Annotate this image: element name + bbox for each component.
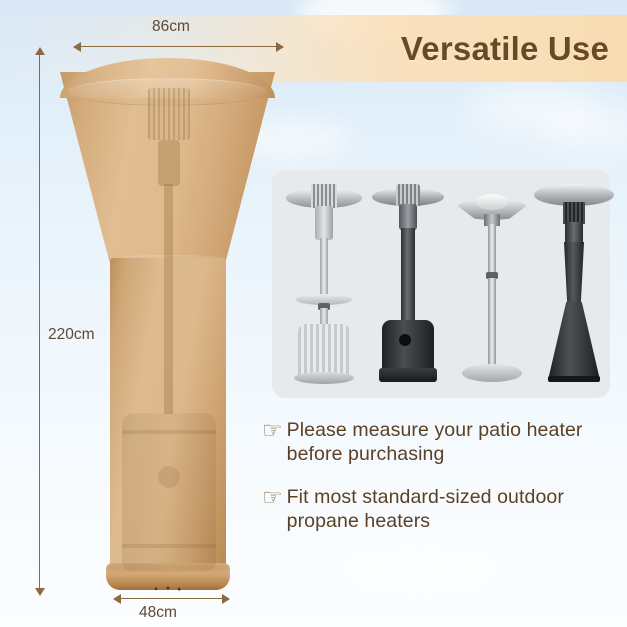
page-title: Versatile Use bbox=[401, 30, 609, 68]
heater-base bbox=[294, 372, 354, 384]
cloud-decoration bbox=[330, 540, 510, 590]
bullet-item-fit: ☞ Fit most standard-sized outdoor propan… bbox=[262, 485, 622, 533]
compatible-heaters-panel bbox=[272, 170, 610, 398]
heater-tank bbox=[382, 320, 434, 372]
dimension-line-width-top bbox=[80, 46, 276, 47]
heater-control-box bbox=[565, 222, 583, 244]
heater-burner-housing bbox=[311, 184, 337, 208]
heater-tank-ring bbox=[122, 430, 216, 434]
heater-pole bbox=[320, 238, 328, 300]
dimension-arrow-left bbox=[73, 42, 81, 52]
dimension-arrow-down bbox=[35, 588, 45, 596]
heater-pole-showthrough bbox=[164, 184, 173, 414]
cloud-decoration bbox=[540, 110, 627, 150]
bullet-text: Please measure your patio heater before … bbox=[287, 418, 583, 466]
infographic-canvas: Versatile Use 86cm 220cm 48cm bbox=[0, 0, 627, 627]
heater-thumbnail-2 bbox=[372, 182, 444, 384]
dimension-line-width-bottom bbox=[120, 598, 222, 599]
dimension-arrow-left bbox=[113, 594, 121, 604]
bullet-line-2: propane heaters bbox=[287, 510, 431, 532]
bullet-line-1: Please measure your patio heater bbox=[287, 419, 583, 441]
heater-burner-showthrough bbox=[148, 88, 190, 140]
bullet-line-2: before purchasing bbox=[287, 443, 445, 465]
dimension-arrow-up bbox=[35, 47, 45, 55]
heater-base bbox=[462, 364, 522, 382]
heater-control-box bbox=[315, 206, 333, 240]
dimension-line-height bbox=[39, 55, 40, 588]
heater-burner-housing bbox=[396, 184, 420, 206]
pointing-hand-icon: ☞ bbox=[262, 486, 283, 509]
dimension-label-width-bottom: 48cm bbox=[139, 604, 177, 622]
dimension-label-height: 220cm bbox=[48, 326, 95, 344]
bullet-text: Fit most standard-sized outdoor propane … bbox=[287, 485, 564, 533]
heater-burner-dome bbox=[476, 194, 508, 210]
dimension-arrow-right bbox=[222, 594, 230, 604]
heater-flared-base bbox=[548, 302, 600, 380]
heater-thumbnail-4 bbox=[534, 178, 614, 384]
heater-thumbnail-1 bbox=[286, 184, 362, 384]
heater-thumbnail-3 bbox=[456, 188, 528, 384]
heater-pole-lower bbox=[488, 278, 496, 366]
heater-pole bbox=[401, 228, 415, 324]
heater-base-rim bbox=[548, 376, 600, 382]
heater-tank-ring bbox=[122, 544, 216, 548]
heater-pole bbox=[488, 224, 496, 274]
pointing-hand-icon: ☞ bbox=[262, 419, 283, 442]
heater-tank-port bbox=[399, 334, 411, 346]
dimension-arrow-right bbox=[276, 42, 284, 52]
bullet-line-1: Fit most standard-sized outdoor bbox=[287, 486, 564, 508]
dimension-label-width-top: 86cm bbox=[152, 18, 190, 36]
cover-hem-ties bbox=[148, 586, 188, 593]
heater-base bbox=[379, 368, 437, 382]
heater-tank bbox=[298, 324, 350, 378]
heater-upper-column bbox=[564, 242, 584, 304]
heater-valve-showthrough bbox=[158, 140, 180, 186]
heater-burner-housing bbox=[563, 202, 585, 224]
heater-tank-knob bbox=[158, 466, 180, 488]
heater-control-box bbox=[399, 204, 417, 230]
patio-heater-cover-image bbox=[60, 58, 275, 590]
bullet-item-measure: ☞ Please measure your patio heater befor… bbox=[262, 418, 622, 466]
